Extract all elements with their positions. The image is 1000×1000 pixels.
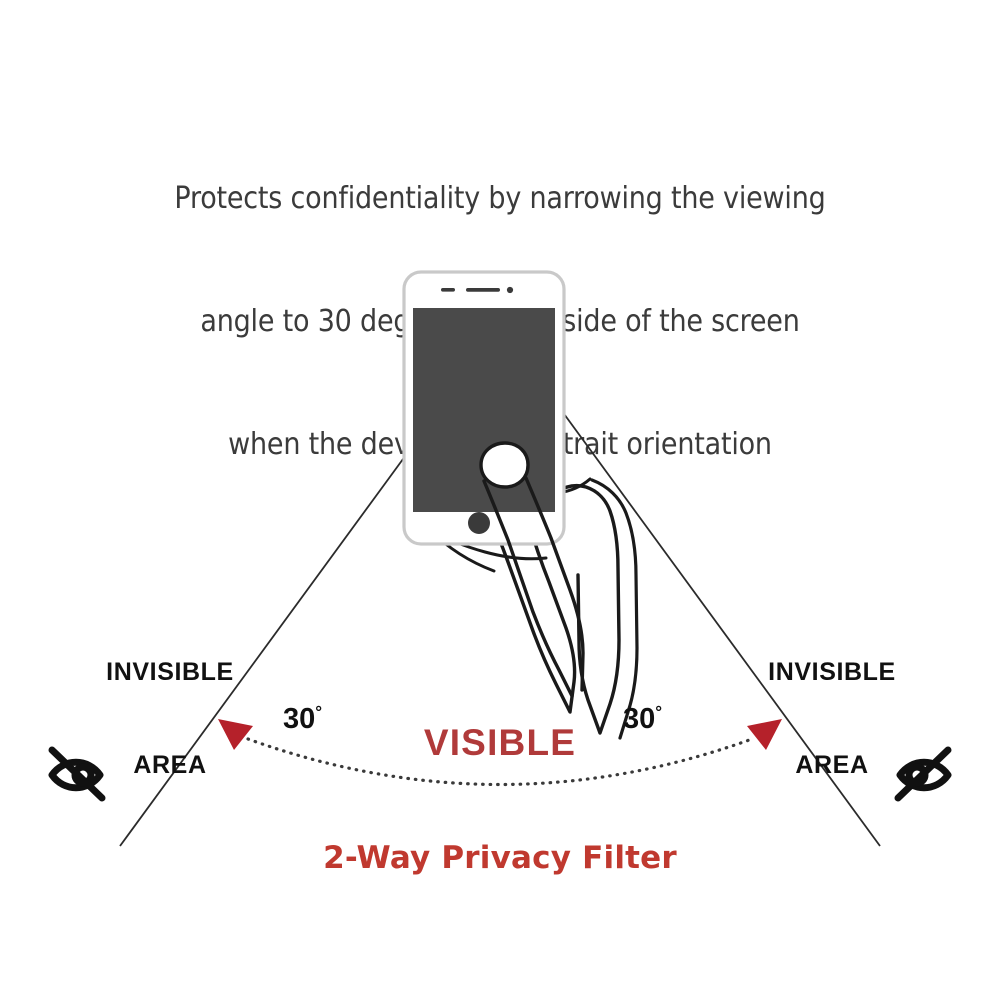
invisible-area-left-line-1: INVISIBLE: [60, 657, 280, 688]
degree-symbol-right: °: [655, 702, 662, 721]
visible-area-label: VISIBLE: [0, 722, 1000, 764]
invisible-area-right-line-1: INVISIBLE: [722, 657, 942, 688]
earpiece-speaker-icon: [466, 288, 500, 292]
smartphone: [404, 272, 564, 544]
proximity-sensor-icon: [441, 288, 455, 292]
infographic-canvas: Protects confidentiality by narrowing th…: [0, 0, 1000, 1000]
front-camera-icon: [507, 287, 513, 293]
degree-symbol-left: °: [315, 702, 322, 721]
invisible-area-label-right: INVISIBLE AREA: [722, 595, 942, 843]
thumb-tip: [481, 443, 528, 487]
product-name-label: 2-Way Privacy Filter: [0, 840, 1000, 876]
home-button: [468, 512, 490, 534]
invisible-area-label-left: INVISIBLE AREA: [60, 595, 280, 843]
